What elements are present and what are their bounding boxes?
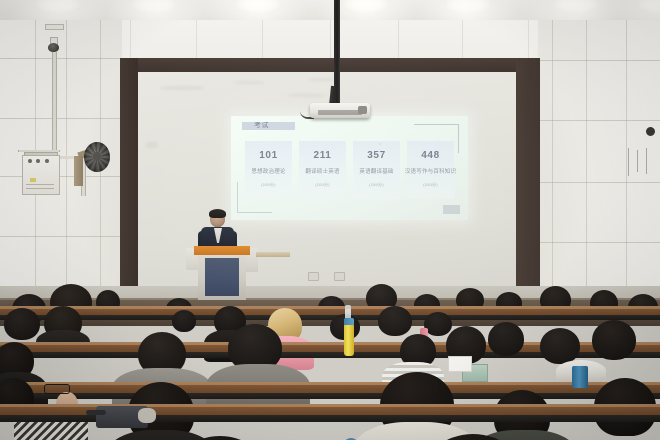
- lecture-hall-photo: 考试 101 思想政治理论 (100分) 211 翻译硕士英语 (100分) 3…: [0, 0, 660, 440]
- wall-conduit: [52, 52, 57, 158]
- audience-head: [488, 322, 524, 356]
- card-label: 思想政治理论: [251, 167, 285, 175]
- desk-row: [0, 306, 660, 320]
- audience-area: [0, 286, 660, 440]
- card-label: 英语翻译基础: [359, 167, 393, 175]
- tile-seam: [0, 58, 122, 59]
- wall-wire: [637, 150, 638, 172]
- projector-lens: [358, 106, 367, 114]
- tile-seam: [538, 120, 660, 121]
- audience-head: [424, 312, 452, 336]
- card-number: 357: [367, 150, 386, 161]
- card-number: 211: [314, 150, 332, 161]
- fan-hub: [93, 152, 101, 161]
- tile-seam: [538, 60, 660, 61]
- slide-card: 211 翻译硕士英语 (100分): [299, 141, 346, 199]
- wall-wire: [628, 148, 629, 176]
- slide-card-list: 101 思想政治理论 (100分) 211 翻译硕士英语 (100分) 357 …: [245, 141, 454, 199]
- audience-head: [378, 306, 412, 336]
- slide-card: 448 汉语写作与百科知识 (150分): [407, 141, 454, 199]
- electrical-box-label: [30, 178, 36, 182]
- wall-outlet: [308, 272, 319, 281]
- tile-seam: [0, 176, 122, 177]
- board-smudge: [308, 78, 334, 81]
- board-smudge: [160, 86, 204, 90]
- camera-mount-arm: [45, 24, 64, 30]
- tile-seam: [538, 242, 660, 243]
- blue-travel-mug: [572, 366, 588, 388]
- desk-row: [0, 382, 660, 399]
- fan-arm: [74, 156, 83, 186]
- card-label: 汉语写作与百科知识: [405, 167, 456, 175]
- bottle-cap: [345, 305, 351, 309]
- electrical-box-knob: [28, 159, 32, 163]
- audience-body: [106, 430, 216, 440]
- electrical-box-knob: [45, 159, 49, 163]
- audience-head: [172, 310, 196, 332]
- board-smudge: [146, 142, 158, 148]
- electrical-box-knob: [36, 159, 40, 163]
- card-sub: (100分): [315, 182, 330, 188]
- tile-seam: [552, 20, 553, 320]
- board-smudge: [234, 81, 264, 84]
- tile-seam: [0, 118, 122, 119]
- wall-outlet: [334, 272, 345, 281]
- bottle-cap-blue: [344, 318, 354, 325]
- card-sub: (150分): [423, 182, 438, 188]
- board-frame-top: [120, 58, 540, 72]
- slide-title: 考试: [254, 122, 276, 130]
- glasses-icon: [44, 384, 70, 394]
- wall-wire: [646, 148, 647, 174]
- audience-head: [592, 320, 636, 360]
- projector-brand-label: [318, 110, 362, 115]
- audience-head: [540, 328, 580, 364]
- tile-seam: [0, 236, 122, 237]
- projected-slide: 考试 101 思想政治理论 (100分) 211 翻译硕士英语 (100分) 3…: [231, 116, 468, 220]
- electrical-box-line: [26, 184, 54, 185]
- slide-corner-block: [443, 205, 460, 214]
- tile-seam: [586, 20, 587, 320]
- security-camera-icon: [48, 43, 59, 52]
- notebook-page: [448, 356, 472, 372]
- left-side-wall: [0, 20, 122, 320]
- tile-seam: [626, 20, 627, 320]
- card-sub: (100分): [261, 182, 276, 188]
- podium-top-surface: [194, 246, 250, 255]
- tile-seam: [66, 20, 67, 320]
- card-sub: (150分): [369, 182, 384, 188]
- board-frame-left: [120, 58, 138, 290]
- electrical-box-line: [26, 188, 54, 189]
- bag-pouch: [138, 408, 156, 423]
- board-frame-right: [516, 58, 540, 290]
- presenter-hair: [209, 209, 226, 218]
- board-smudge: [288, 94, 326, 97]
- podium-rail: [256, 252, 290, 257]
- bag-strap: [86, 410, 106, 415]
- card-number: 101: [259, 150, 278, 161]
- right-side-wall: [538, 20, 660, 320]
- audience-head: [4, 308, 40, 340]
- slide-card: 357 英语翻译基础 (150分): [353, 141, 400, 199]
- tile-seam: [538, 182, 660, 183]
- wall-speaker-icon: [646, 127, 655, 136]
- card-number: 448: [421, 150, 440, 161]
- yellow-water-bottle: [344, 324, 354, 356]
- slide-card: 101 思想政治理论 (100分): [245, 141, 292, 199]
- card-label: 翻译硕士英语: [305, 167, 339, 175]
